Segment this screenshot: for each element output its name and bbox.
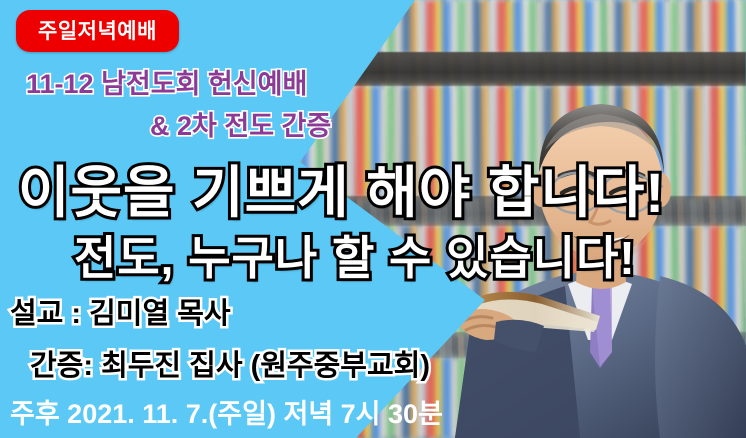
service-type-badge: 주일저녁예배 [16,10,179,52]
subtitle-line-1: 11-12 남전도회 헌신예배 [26,62,307,101]
testimony-line: 간증: 최두진 집사 (원주중부교회) [30,342,430,384]
subtitle-line-2: & 2차 전도 간증 [150,104,331,143]
headline-line-1: 이웃을 기쁘게 해야 합니다! [18,148,665,229]
preacher-line: 설교 : 김미열 목사 [10,290,231,332]
poster-canvas: 주일저녁예배 11-12 남전도회 헌신예배 & 2차 전도 간증 이웃을 기쁘… [0,0,746,438]
headline-line-2: 전도, 누구나 할 수 있습니다! [74,222,636,288]
service-datetime: 주후 2021. 11. 7.(주일) 저녁 7시 30분 [10,392,443,431]
